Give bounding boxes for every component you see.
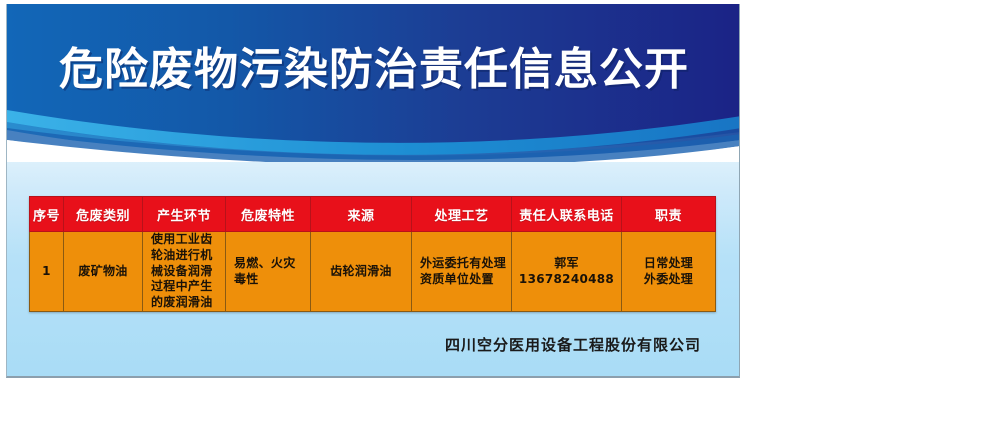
contact-person-name: 郭军 — [512, 256, 621, 272]
company-name-footer: 四川空分医用设备工程股份有限公司 — [7, 334, 721, 355]
table-row: 1 废矿物油 使用工业齿轮油进行机械设备润滑过程中产生的废润滑油 易燃、火灾毒性… — [30, 232, 716, 312]
duty-line-1: 日常处理 — [622, 256, 715, 272]
column-header-stage: 产生环节 — [143, 197, 226, 232]
cell-contact: 郭军 13678240488 — [512, 232, 622, 312]
table-header-row: 序号 危废类别 产生环节 危废特性 来源 处理工艺 责任人联系电话 职责 — [30, 197, 716, 232]
cell-duty: 日常处理 外委处理 — [622, 232, 716, 312]
hazardous-waste-table: 序号 危废类别 产生环节 危废特性 来源 处理工艺 责任人联系电话 职责 1 废… — [29, 196, 716, 312]
cell-sequence: 1 — [30, 232, 64, 312]
cell-properties-text: 易燃、火灾毒性 — [231, 256, 310, 288]
column-header-source: 来源 — [311, 197, 412, 232]
column-header-contact-phone: 责任人联系电话 — [512, 197, 622, 232]
column-header-duty: 职责 — [622, 197, 716, 232]
cell-category: 废矿物油 — [64, 232, 143, 312]
page-title: 危险废物污染防治责任信息公开 — [7, 48, 740, 92]
column-header-properties: 危废特性 — [226, 197, 311, 232]
cell-source: 齿轮润滑油 — [311, 232, 412, 312]
cell-process-text: 外运委托有处理资质单位处置 — [417, 256, 511, 288]
information-disclosure-poster: 危险废物污染防治责任信息公开 序号 危废类别 产生环节 危废特性 来源 处理工艺… — [6, 4, 740, 378]
poster-banner: 危险废物污染防治责任信息公开 — [7, 4, 740, 162]
column-header-sequence: 序号 — [30, 197, 64, 232]
cell-process: 外运委托有处理资质单位处置 — [412, 232, 512, 312]
column-header-category: 危废类别 — [64, 197, 143, 232]
cell-stage: 使用工业齿轮油进行机械设备润滑过程中产生的废润滑油 — [143, 232, 226, 312]
duty-line-2: 外委处理 — [622, 272, 715, 288]
column-header-process: 处理工艺 — [412, 197, 512, 232]
cell-properties: 易燃、火灾毒性 — [226, 232, 311, 312]
contact-person-phone: 13678240488 — [512, 272, 621, 288]
cell-stage-text: 使用工业齿轮油进行机械设备润滑过程中产生的废润滑油 — [148, 232, 225, 311]
